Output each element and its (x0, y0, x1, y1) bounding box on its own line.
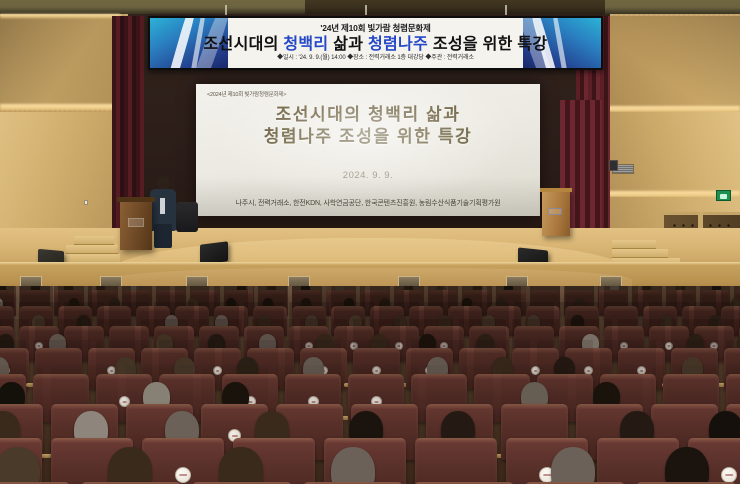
seat-headrest (649, 326, 689, 331)
seat-headrest (462, 290, 492, 295)
banner-title: 조선시대의 청백리 삶과 청렴나주 조성을 위한 특강 (204, 36, 548, 54)
seat-headrest (0, 348, 29, 353)
left-wall-shadow (0, 16, 130, 106)
banner-title-part-3: 삶과 (328, 36, 368, 53)
seat-headrest (88, 348, 135, 353)
seat-headrest (512, 348, 559, 353)
seat-headrest (724, 348, 740, 353)
audience-seating (0, 286, 740, 484)
seat-headrest (233, 438, 315, 443)
seat-headrest (559, 326, 599, 331)
lectern-right-top (540, 188, 572, 192)
presenter-shirt (160, 198, 165, 214)
presenter-head (157, 176, 170, 190)
seat-headrest (632, 290, 662, 295)
audience-person-head (219, 447, 263, 484)
seat-headrest (199, 326, 239, 331)
seat-headrest (415, 438, 497, 443)
banner-title-part-5: 조성을 위한 특강 (428, 36, 547, 53)
seat-headrest (426, 404, 493, 409)
right-wall-shadow (604, 16, 740, 112)
banner-title-part-4: 청렴나주 (368, 36, 428, 53)
slide-organizations: 나주시, 전력거래소, 한전KDN, 사학연금공단, 한국콘텐츠진흥원, 농림수… (196, 198, 540, 208)
seat-headrest (726, 404, 740, 409)
seat-headrest (694, 326, 734, 331)
auditorium-seat[interactable] (415, 438, 497, 484)
seat-headrest (88, 290, 118, 295)
seat-headrest (666, 290, 696, 295)
seat-headrest (0, 438, 42, 443)
seat-headrest (0, 326, 14, 331)
seat-headrest (663, 374, 719, 379)
lectern-left-plate (128, 218, 144, 227)
seat-headrest (487, 306, 521, 311)
seat-headrest (97, 306, 131, 311)
seat-headrest (604, 326, 644, 331)
seat-headrest (324, 438, 406, 443)
seat-headrest (671, 348, 718, 353)
seat-headrest (201, 404, 268, 409)
seat-headrest (19, 326, 59, 331)
seat-headrest (156, 290, 186, 295)
seat-headrest (394, 290, 424, 295)
seat-headrest (334, 326, 374, 331)
stage-chair (176, 202, 198, 232)
banner-title-part-2: 청백리 (283, 36, 328, 53)
left-cove-light-upper (0, 14, 120, 18)
seat-headrest (411, 374, 467, 379)
seat-headrest (175, 306, 209, 311)
seat-headrest (54, 290, 84, 295)
seat-headrest (514, 326, 554, 331)
seat-headrest (459, 348, 506, 353)
seat-headrest (537, 374, 593, 379)
seat-headrest (576, 404, 643, 409)
seat-headrest (506, 438, 588, 443)
seat-headrest (604, 306, 638, 311)
seat-headrest (597, 438, 679, 443)
audience-person-head (108, 447, 152, 484)
seat-headrest (734, 290, 740, 295)
seat-headrest (351, 404, 418, 409)
stage-edge-lip (0, 262, 740, 265)
seat-headrest (331, 306, 365, 311)
seat-headrest (20, 290, 50, 295)
seat-headrest (428, 290, 458, 295)
seat-headrest (496, 290, 526, 295)
seat-headrest (618, 348, 665, 353)
seat-headrest (370, 306, 404, 311)
seat-headrest (598, 290, 628, 295)
seat-headrest (379, 326, 419, 331)
seat-headrest (474, 374, 530, 379)
seat-headrest (159, 374, 215, 379)
seat-headrest (244, 326, 284, 331)
lectern-right-plate (548, 208, 562, 215)
seat-headrest (565, 348, 612, 353)
seat-headrest (688, 438, 740, 443)
seat-headrest (501, 404, 568, 409)
projection-screen: <2024년 제10회 빛가람청렴문화제> 조선시대의 청백리 삶과 청렴나주 … (196, 84, 540, 216)
seat-headrest (726, 374, 740, 379)
seat-headrest (651, 404, 718, 409)
seat-headrest (424, 326, 464, 331)
banner-title-part-1: 조선시대의 (204, 36, 284, 53)
seat-number-sticker (213, 366, 222, 375)
seat-headrest (142, 438, 224, 443)
seat-headrest (564, 290, 594, 295)
slide-title: 조선시대의 청백리 삶과 청렴나주 조성을 위한 특강 (196, 104, 540, 148)
audience-person-head (331, 447, 375, 484)
banner-hanger-2 (365, 5, 367, 15)
seat-headrest (285, 374, 341, 379)
seat-headrest (530, 290, 560, 295)
seat-headrest (19, 306, 53, 311)
seat-headrest (126, 404, 193, 409)
seat-headrest (64, 326, 104, 331)
seat-headrest (0, 306, 14, 311)
audience-person-head (665, 447, 709, 484)
seat-headrest (0, 290, 16, 295)
banner-hanger-1 (225, 5, 227, 15)
seat-headrest (643, 306, 677, 311)
slide-header: <2024년 제10회 빛가람청렴문화제> (207, 90, 286, 98)
seat-headrest (58, 306, 92, 311)
seat-headrest (300, 348, 347, 353)
seat-headrest (565, 306, 599, 311)
seat-headrest (258, 290, 288, 295)
seat-headrest (51, 404, 118, 409)
seat-headrest (289, 326, 329, 331)
exit-sign-icon (716, 190, 731, 201)
seat-headrest (0, 404, 43, 409)
seat-headrest (33, 374, 89, 379)
seat-headrest (700, 290, 730, 295)
audience-person-head (551, 447, 595, 484)
left-wall-lower-panel (0, 112, 130, 232)
banner-hanger-3 (505, 5, 507, 15)
seat-headrest (600, 374, 656, 379)
seat-headrest (409, 306, 443, 311)
seat-headrest (292, 306, 326, 311)
seat-headrest (721, 306, 740, 311)
seat-headrest (190, 290, 220, 295)
seat-headrest (35, 348, 82, 353)
seat-headrest (194, 348, 241, 353)
seat-headrest (292, 290, 322, 295)
slide-title-line2: 청렴나주 조성을 위한 특강 (196, 126, 540, 148)
seat-headrest (348, 374, 404, 379)
seat-headrest (0, 374, 26, 379)
seat-headrest (353, 348, 400, 353)
seat-headrest (448, 306, 482, 311)
seat-headrest (224, 290, 254, 295)
left-cove-light-lower (0, 104, 130, 110)
seat-headrest (96, 374, 152, 379)
seat-headrest (253, 306, 287, 311)
seat-number-sticker (721, 467, 737, 483)
seat-headrest (247, 348, 294, 353)
lectern-left-top (117, 197, 155, 202)
seat-headrest (214, 306, 248, 311)
seat-headrest (136, 306, 170, 311)
slide-date: 2024. 9. 9. (196, 170, 540, 181)
seat-headrest (469, 326, 509, 331)
light-switch-left[interactable] (84, 200, 88, 205)
banner-subline: ◆일시 : '24. 9. 9.(월) 14:00 ◆장소 : 전력거래소 1층… (277, 55, 474, 62)
slide-title-line1: 조선시대의 청백리 삶과 (196, 104, 540, 126)
seat-headrest (276, 404, 343, 409)
wall-control-panel[interactable] (609, 160, 618, 171)
seat-headrest (122, 290, 152, 295)
event-banner: '24년 제10회 빛가람 청렴문화제 조선시대의 청백리 삶과 청렴나주 조성… (148, 16, 603, 70)
seat-headrest (360, 290, 390, 295)
seat-headrest (109, 326, 149, 331)
seat-headrest (682, 306, 716, 311)
seat-headrest (526, 306, 560, 311)
seat-headrest (222, 374, 278, 379)
seat-headrest (326, 290, 356, 295)
seat-headrest (141, 348, 188, 353)
auditorium-photo: '24년 제10회 빛가람 청렴문화제 조선시대의 청백리 삶과 청렴나주 조성… (0, 0, 740, 484)
seat-headrest (154, 326, 194, 331)
right-wall-mid-panel (604, 112, 740, 197)
presenter-legs (154, 224, 172, 248)
seat-number-sticker (175, 467, 191, 483)
auditorium-seat[interactable] (142, 438, 224, 484)
seat-headrest (406, 348, 453, 353)
seat-headrest (51, 438, 133, 443)
banner-superline: '24년 제10회 빛가람 청렴문화제 (320, 24, 430, 33)
